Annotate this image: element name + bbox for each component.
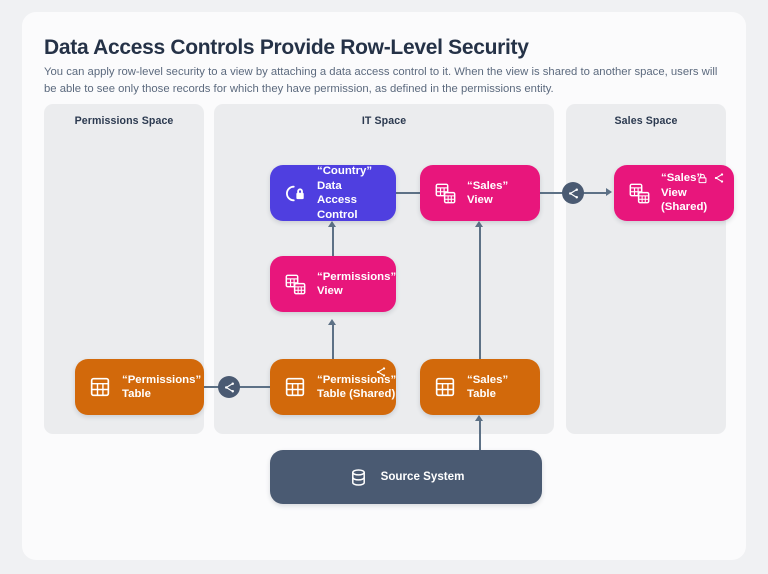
node-sales-table[interactable]: “Sales” Table <box>420 359 540 415</box>
node-label: “Permissions” View <box>317 270 396 299</box>
page-title: Data Access Controls Provide Row-Level S… <box>44 36 704 60</box>
node-label: “Sales” Table <box>467 373 526 402</box>
space-label-sales: Sales Space <box>566 115 726 127</box>
connector-permtable-to-permview <box>332 325 334 359</box>
node-data-access-control[interactable]: “Country” Data Access Control <box>270 165 396 221</box>
space-panel-sales: Sales Space <box>566 104 726 434</box>
arrowhead-source-to-salestable <box>475 415 483 421</box>
lock-icon <box>697 173 708 184</box>
node-sales-view-shared[interactable]: “Sales” View (Shared) <box>614 165 734 221</box>
view-icon <box>628 182 650 204</box>
database-icon <box>348 466 370 488</box>
node-permissions-table[interactable]: “Permissions” Table <box>75 359 204 415</box>
node-badges <box>375 366 387 378</box>
view-icon <box>434 182 456 204</box>
table-icon <box>434 376 456 398</box>
connector-salestable-to-salesview <box>479 227 481 359</box>
connector-dac-to-salesview <box>396 192 420 194</box>
view-icon <box>284 273 306 295</box>
share-icon <box>713 172 725 184</box>
space-label-permissions: Permissions Space <box>44 115 204 127</box>
node-label: “Sales” View <box>467 179 526 208</box>
data-access-control-lock-icon <box>284 182 306 204</box>
node-label: Source System <box>381 470 465 485</box>
node-label: “Permissions” Table <box>122 373 201 402</box>
node-badges <box>697 172 725 184</box>
arrowhead-permtable-to-permview <box>328 319 336 325</box>
share-icon <box>567 187 580 200</box>
share-connector-sales[interactable] <box>562 182 584 204</box>
arrowhead-salestable-to-salesview <box>475 221 483 227</box>
node-permissions-view[interactable]: “Permissions” View <box>270 256 396 312</box>
node-label: “Country” Data Access Control <box>317 164 382 222</box>
table-icon <box>89 376 111 398</box>
connector-permview-to-dac <box>332 227 334 256</box>
node-sales-view[interactable]: “Sales” View <box>420 165 540 221</box>
page-subtitle: You can apply row-level security to a vi… <box>44 64 718 98</box>
diagram-card: Data Access Controls Provide Row-Level S… <box>22 12 746 560</box>
node-source-system[interactable]: Source System <box>270 450 542 504</box>
share-connector-permissions[interactable] <box>218 376 240 398</box>
arrowhead-salesview-to-shared <box>606 188 612 196</box>
node-permissions-table-shared[interactable]: “Permissions” Table (Shared) <box>270 359 396 415</box>
share-icon <box>223 381 236 394</box>
connector-source-to-salestable <box>479 421 481 450</box>
diagram-canvas: Data Access Controls Provide Row-Level S… <box>0 0 768 574</box>
share-icon <box>375 366 387 378</box>
space-label-it: IT Space <box>214 115 554 127</box>
view-icon-glyph <box>285 274 306 295</box>
table-icon <box>284 376 306 398</box>
